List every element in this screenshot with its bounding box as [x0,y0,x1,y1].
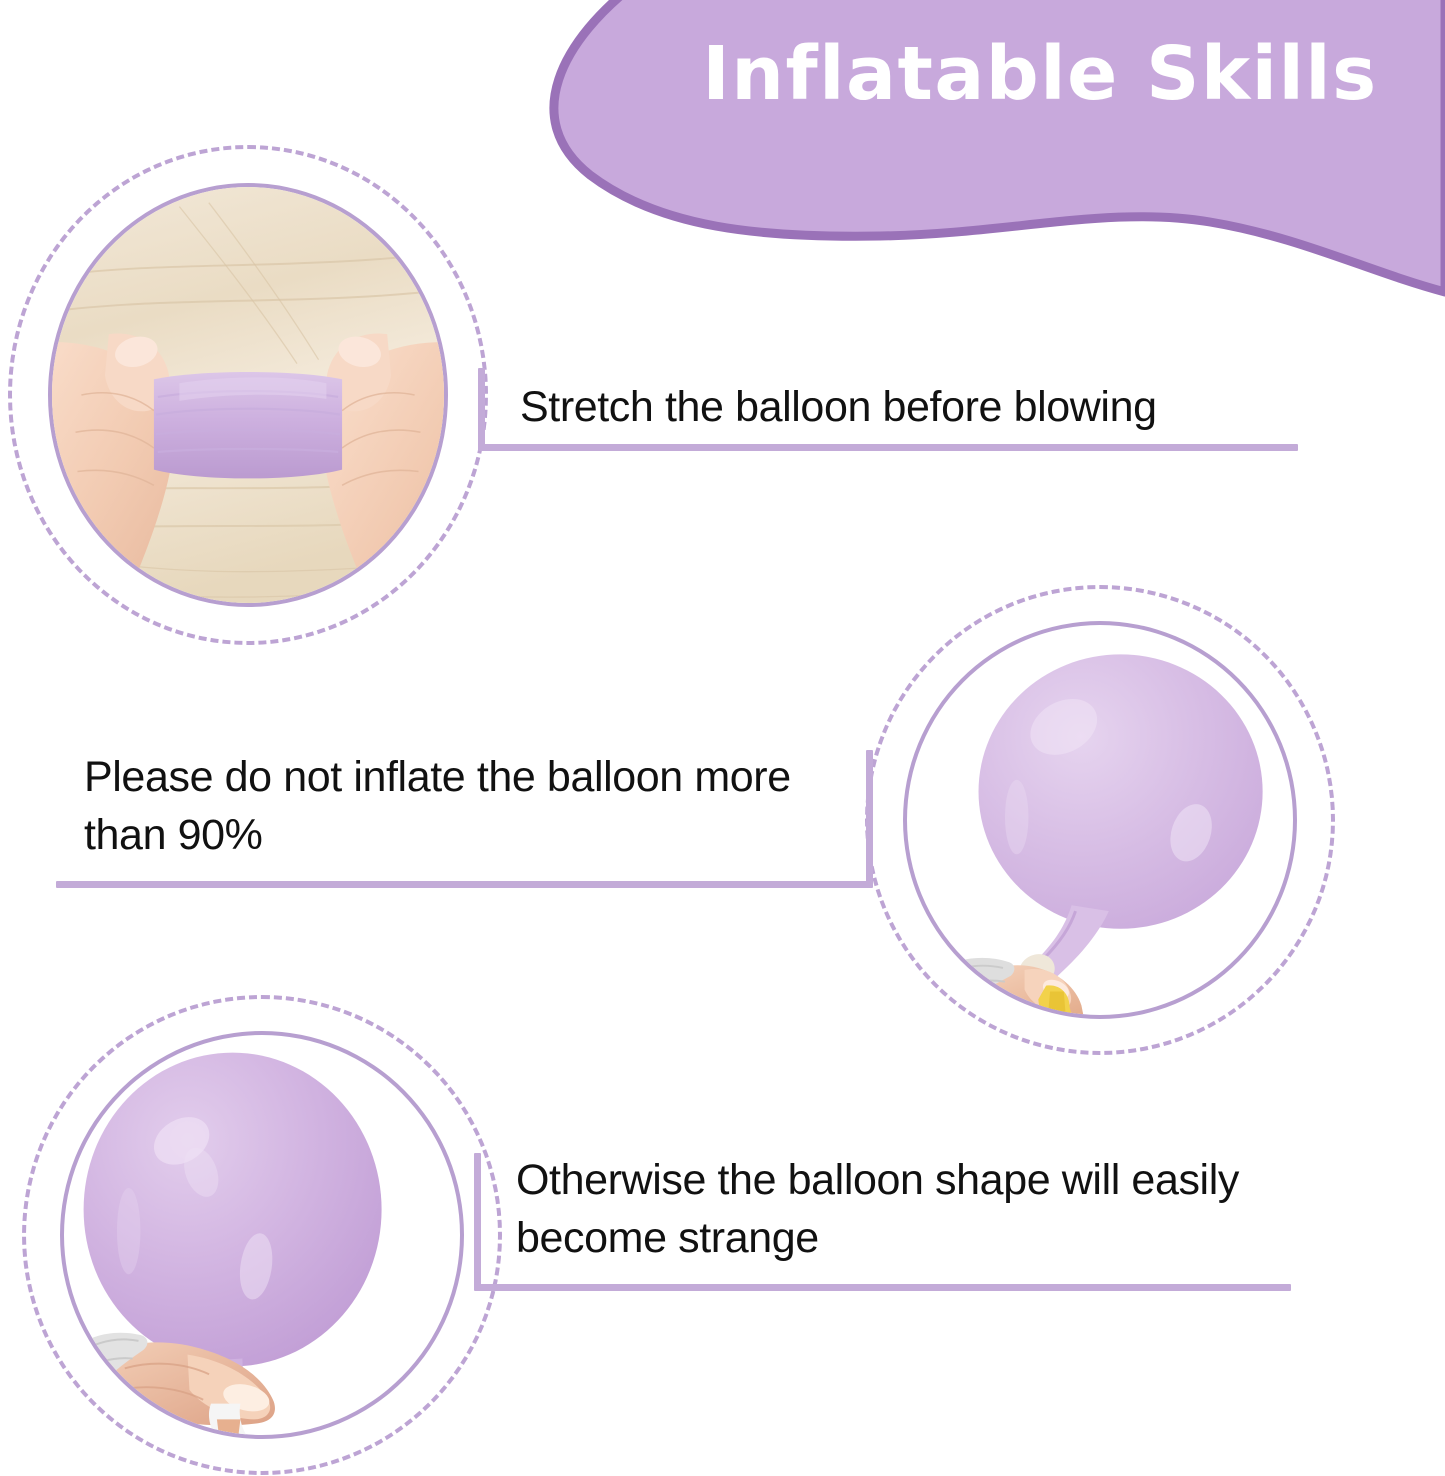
caption-line: than 90% [84,806,874,864]
step-photo-pump [865,585,1335,1055]
photo-pump-balloon [907,625,1293,1015]
photo-frame-stretch [48,183,448,607]
infographic-page: Inflatable Skills [0,0,1445,1476]
step-photo-stretch [8,145,488,645]
caption-line: Please do not inflate the balloon more [84,748,874,806]
photo-inflated-balloon [64,1035,460,1435]
step-photo-inflated [22,995,502,1475]
caption-underline-shape [474,1284,1291,1291]
page-title: Inflatable Skills [640,36,1440,114]
caption-block-stretch: Stretch the balloon before blowing [470,360,1300,480]
photo-frame-pump [903,621,1297,1019]
caption-line: Otherwise the balloon shape will easily [516,1151,1306,1209]
caption-block-shape: Otherwise the balloon shape will easily … [468,1145,1298,1325]
caption-riser-ninety [866,750,873,885]
caption-text-ninety: Please do not inflate the balloon more t… [84,748,874,864]
caption-riser-stretch [478,368,485,448]
caption-riser-shape [474,1153,481,1288]
caption-underline-stretch [478,444,1298,451]
caption-text-shape: Otherwise the balloon shape will easily … [516,1151,1306,1267]
caption-block-ninety: Please do not inflate the balloon more t… [50,740,880,920]
photo-stretch-balloon [52,187,444,603]
caption-underline-ninety [56,881,873,888]
photo-frame-inflated [60,1031,464,1439]
caption-line: Stretch the balloon before blowing [520,383,1157,431]
caption-line: become strange [516,1209,1306,1267]
caption-text-stretch: Stretch the balloon before blowing [520,378,1300,436]
